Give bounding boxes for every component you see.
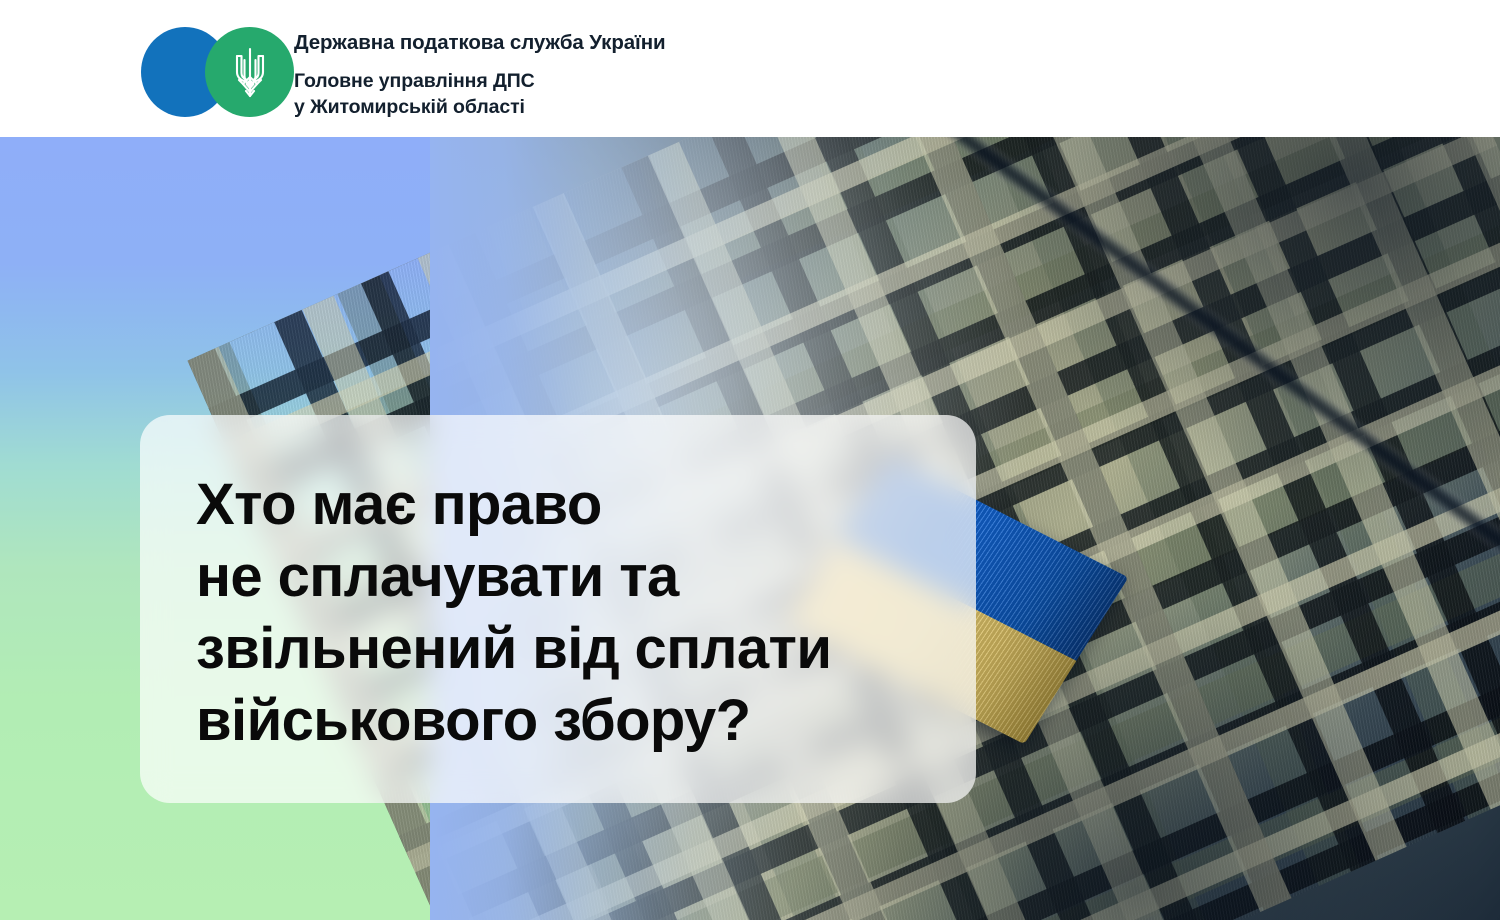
- brand-text-block: Державна податкова служба України Головн…: [294, 27, 666, 120]
- ukrainian-trident-icon: [230, 46, 270, 99]
- page-title-line-1: Хто має право: [196, 469, 976, 541]
- dps-logo: [141, 27, 294, 117]
- page-title-line-3: звільнений від сплати: [196, 613, 976, 685]
- hero-section: Хто має право не сплачувати та звільнени…: [0, 137, 1500, 920]
- brand-lockup: Державна податкова служба України Головн…: [141, 27, 666, 120]
- page-title-line-2: не сплачувати та: [196, 541, 976, 613]
- page-title: Хто має право не сплачувати та звільнени…: [196, 469, 976, 757]
- page-title-line-4: військового збору?: [196, 685, 976, 757]
- header-bar: Державна податкова служба України Головн…: [0, 0, 1500, 137]
- department-line-2: у Житомирській області: [294, 94, 666, 120]
- poster-canvas: Державна податкова служба України Головн…: [0, 0, 1500, 920]
- department-line-1: Головне управління ДПС: [294, 68, 666, 94]
- organization-name: Державна податкова служба України: [294, 30, 666, 56]
- dps-logo-green-circle: [205, 27, 294, 117]
